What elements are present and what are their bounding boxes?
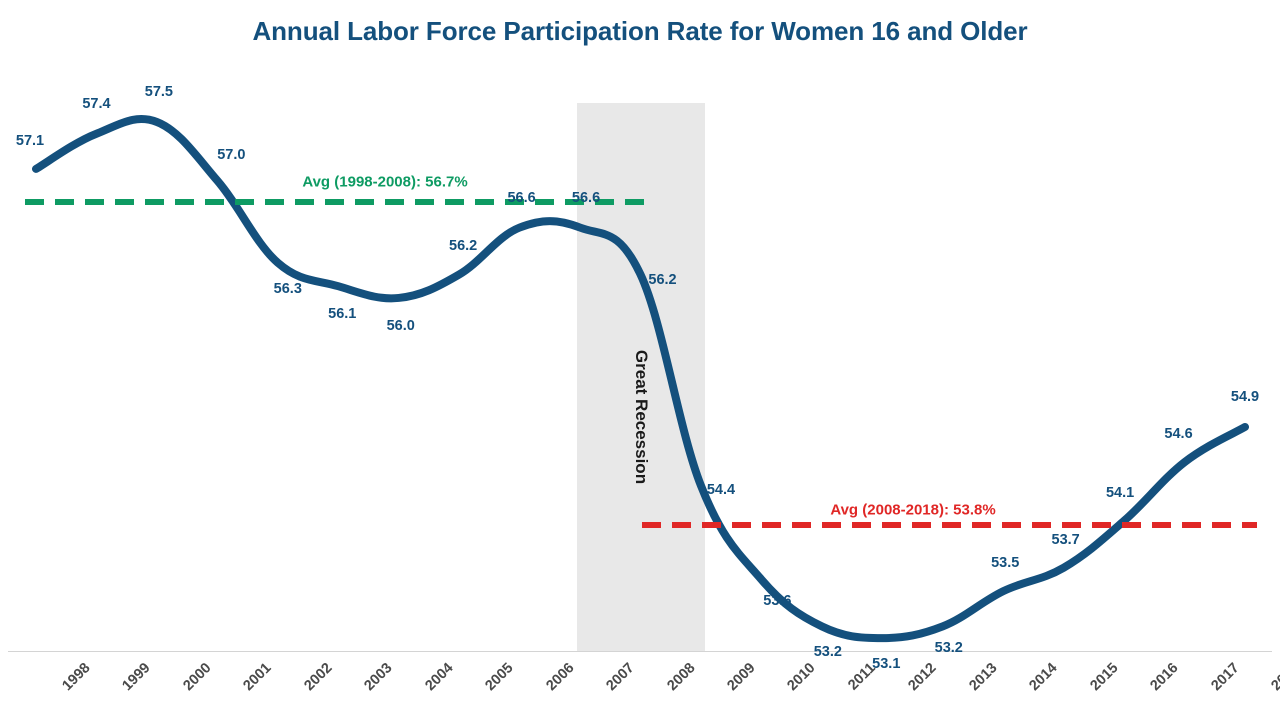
data-point-label: 56.1 — [328, 306, 356, 322]
data-point-label: 53.6 — [763, 593, 791, 609]
data-point-label: 53.2 — [814, 644, 842, 660]
data-point-label: 56.6 — [572, 190, 600, 206]
data-point-label: 54.4 — [707, 482, 735, 498]
data-point-label: 56.2 — [449, 238, 477, 254]
data-point-label: 54.6 — [1164, 426, 1192, 442]
avg-2008-2018-annotation: Avg (2008-2018): 53.8% — [830, 502, 995, 519]
data-point-label: 53.7 — [1052, 532, 1080, 548]
data-point-label: 56.6 — [507, 190, 535, 206]
plot-area: Great Recession Avg (1998-2008): 56.7% A… — [0, 0, 1280, 720]
data-point-label: 57.4 — [82, 96, 110, 112]
data-point-label: 57.5 — [145, 84, 173, 100]
data-point-label: 54.1 — [1106, 485, 1134, 501]
data-point-label: 56.2 — [648, 272, 676, 288]
chart-container: Annual Labor Force Participation Rate fo… — [0, 0, 1280, 720]
data-point-label: 54.9 — [1231, 389, 1259, 405]
x-axis-line — [8, 651, 1272, 652]
data-point-label: 53.5 — [991, 555, 1019, 571]
series-svg — [0, 0, 1280, 720]
line-series-women-lfpr — [36, 119, 1245, 638]
data-point-label: 57.0 — [217, 147, 245, 163]
avg-1998-2008-annotation: Avg (1998-2008): 56.7% — [302, 174, 467, 191]
data-point-label: 57.1 — [16, 133, 44, 149]
data-point-label: 53.2 — [935, 640, 963, 656]
data-point-label: 56.0 — [387, 318, 415, 334]
data-point-label: 56.3 — [274, 281, 302, 297]
